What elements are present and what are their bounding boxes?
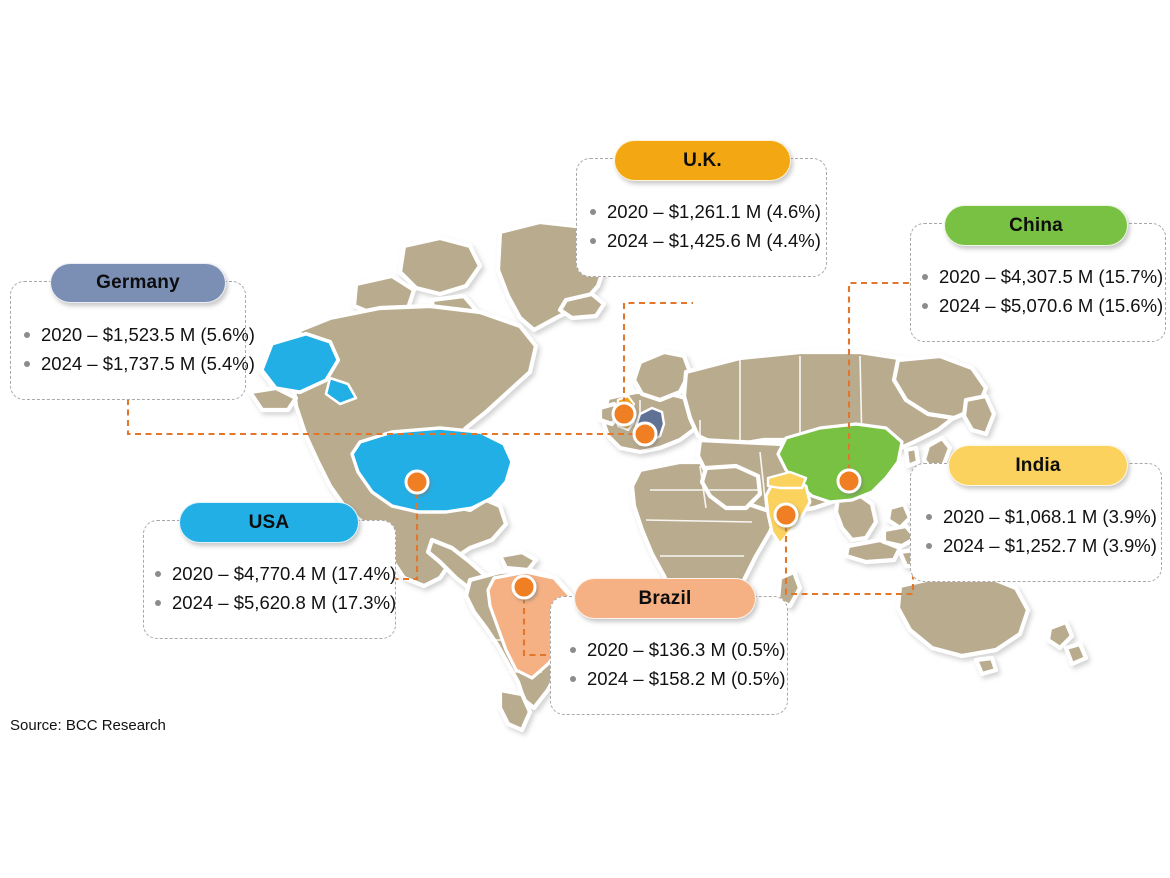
callout-china-row-0: 2020 – $4,307.5 M (15.7%) [939, 266, 1163, 288]
callout-row: 2020 – $1,068.1 M (3.9%) [926, 506, 1162, 528]
callout-row: 2024 – $5,070.6 M (15.6%) [922, 295, 1166, 317]
bullet-icon [922, 303, 928, 309]
map-pin-usa[interactable] [406, 471, 428, 493]
callout-china-title: China [1009, 215, 1063, 237]
callout-row: 2024 – $1,425.6 M (4.4%) [590, 230, 827, 252]
callout-uk[interactable]: U.K. 2020 – $1,261.1 M (4.6%) 2024 – $1,… [576, 140, 827, 277]
callout-row: 2020 – $1,261.1 M (4.6%) [590, 201, 827, 223]
bullet-icon [590, 209, 596, 215]
callout-india-row-0: 2020 – $1,068.1 M (3.9%) [943, 506, 1157, 528]
callout-uk-header[interactable]: U.K. [614, 140, 791, 181]
callout-china-row-1: 2024 – $5,070.6 M (15.6%) [939, 295, 1163, 317]
callout-row: 2024 – $1,252.7 M (3.9%) [926, 535, 1162, 557]
callout-brazil-row-1: 2024 – $158.2 M (0.5%) [587, 668, 786, 690]
callout-row: 2020 – $136.3 M (0.5%) [570, 639, 788, 661]
callout-germany-row-0: 2020 – $1,523.5 M (5.6%) [41, 324, 255, 346]
bullet-icon [926, 514, 932, 520]
callout-china[interactable]: China 2020 – $4,307.5 M (15.7%) 2024 – $… [910, 205, 1166, 342]
callout-brazil[interactable]: Brazil 2020 – $136.3 M (0.5%) 2024 – $15… [550, 578, 788, 715]
callout-uk-lines: 2020 – $1,261.1 M (4.6%) 2024 – $1,425.6… [576, 192, 827, 260]
callout-usa-row-0: 2020 – $4,770.4 M (17.4%) [172, 563, 396, 585]
callout-india-title: India [1015, 455, 1060, 477]
callout-brazil-row-0: 2020 – $136.3 M (0.5%) [587, 639, 786, 661]
map-pin-germany[interactable] [634, 423, 656, 445]
callout-usa[interactable]: USA 2020 – $4,770.4 M (17.4%) 2024 – $5,… [143, 502, 396, 639]
callout-row: 2020 – $4,770.4 M (17.4%) [155, 563, 396, 585]
callout-brazil-lines: 2020 – $136.3 M (0.5%) 2024 – $158.2 M (… [550, 630, 788, 698]
bullet-icon [155, 600, 161, 606]
callout-row: 2024 – $5,620.8 M (17.3%) [155, 592, 396, 614]
callout-usa-header[interactable]: USA [179, 502, 359, 543]
callout-china-lines: 2020 – $4,307.5 M (15.7%) 2024 – $5,070.… [910, 257, 1166, 325]
callout-row: 2020 – $1,523.5 M (5.6%) [24, 324, 246, 346]
map-pin-brazil[interactable] [513, 576, 535, 598]
callout-brazil-title: Brazil [639, 588, 692, 610]
bullet-icon [926, 543, 932, 549]
callout-germany[interactable]: Germany 2020 – $1,523.5 M (5.6%) 2024 – … [10, 263, 246, 400]
bullet-icon [24, 361, 30, 367]
callout-india-row-1: 2024 – $1,252.7 M (3.9%) [943, 535, 1157, 557]
callout-uk-row-1: 2024 – $1,425.6 M (4.4%) [607, 230, 821, 252]
callout-germany-row-1: 2024 – $1,737.5 M (5.4%) [41, 353, 255, 375]
map-pin-uk[interactable] [613, 403, 635, 425]
bullet-icon [570, 676, 576, 682]
map-pins [0, 0, 1170, 878]
callout-brazil-header[interactable]: Brazil [574, 578, 756, 619]
callout-germany-header[interactable]: Germany [50, 263, 226, 303]
map-pin-china[interactable] [838, 470, 860, 492]
callout-germany-title: Germany [96, 272, 180, 294]
callout-uk-row-0: 2020 – $1,261.1 M (4.6%) [607, 201, 821, 223]
callout-usa-title: USA [249, 512, 290, 534]
map-pin-india[interactable] [775, 504, 797, 526]
callout-uk-title: U.K. [683, 150, 722, 172]
callout-usa-lines: 2020 – $4,770.4 M (17.4%) 2024 – $5,620.… [143, 554, 396, 622]
bullet-icon [590, 238, 596, 244]
callout-india[interactable]: India 2020 – $1,068.1 M (3.9%) 2024 – $1… [910, 445, 1162, 582]
source-note: Source: BCC Research [10, 717, 166, 734]
bullet-icon [155, 571, 161, 577]
callout-india-header[interactable]: India [948, 445, 1128, 486]
callout-row: 2024 – $158.2 M (0.5%) [570, 668, 788, 690]
callout-china-header[interactable]: China [944, 205, 1128, 246]
bullet-icon [570, 647, 576, 653]
callout-germany-lines: 2020 – $1,523.5 M (5.6%) 2024 – $1,737.5… [10, 315, 246, 383]
callout-india-lines: 2020 – $1,068.1 M (3.9%) 2024 – $1,252.7… [910, 497, 1162, 565]
callout-row: 2024 – $1,737.5 M (5.4%) [24, 353, 246, 375]
callout-usa-row-1: 2024 – $5,620.8 M (17.3%) [172, 592, 396, 614]
bullet-icon [24, 332, 30, 338]
bullet-icon [922, 274, 928, 280]
world-map-infographic: Germany 2020 – $1,523.5 M (5.6%) 2024 – … [0, 0, 1170, 878]
callout-row: 2020 – $4,307.5 M (15.7%) [922, 266, 1166, 288]
